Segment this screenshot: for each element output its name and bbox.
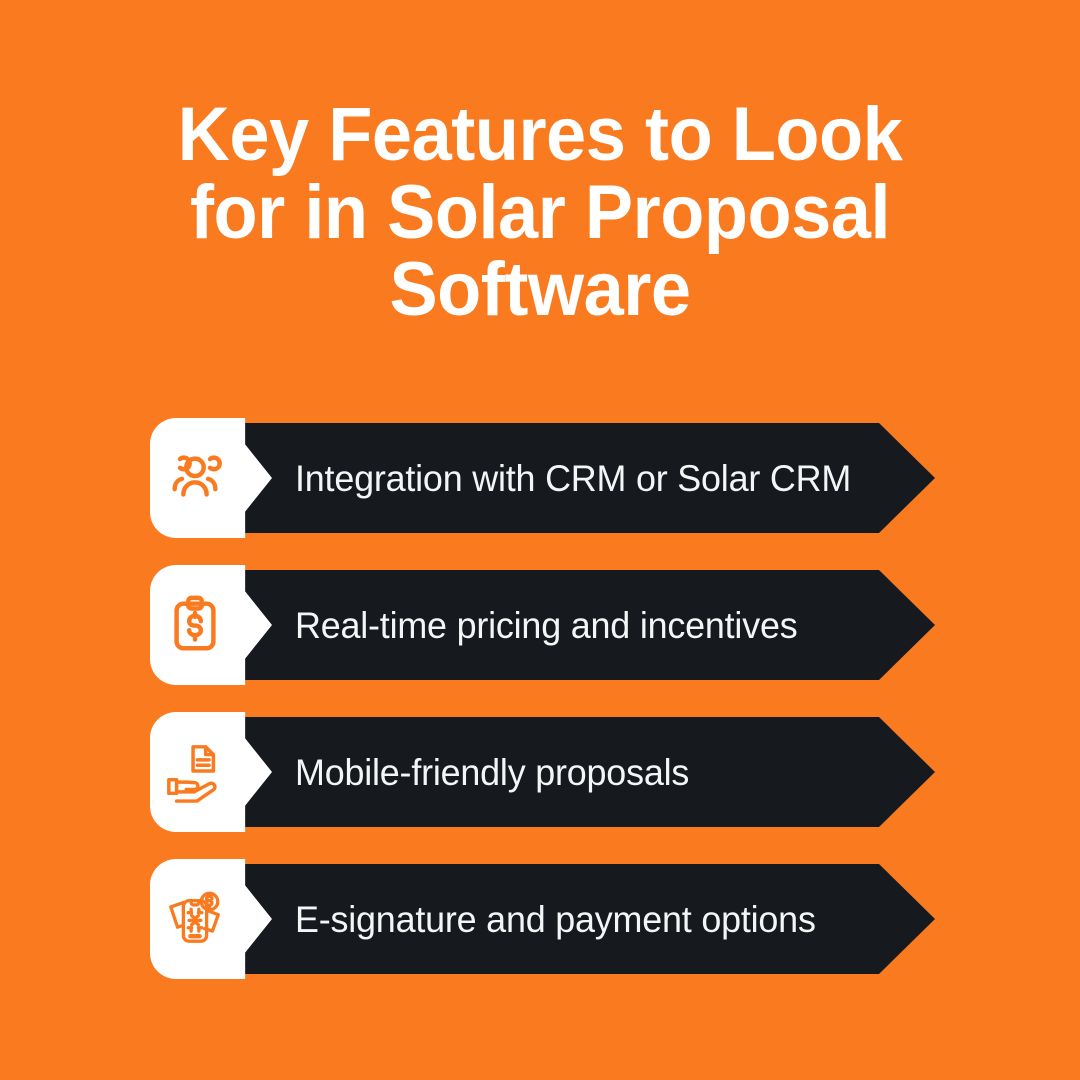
clipboard-dollar-icon [164,594,226,656]
feature-label: Mobile-friendly proposals [295,754,689,791]
page-title: Key Features to Look for in Solar Propos… [141,96,939,329]
feature-row[interactable]: Mobile-friendly proposals [0,712,1080,832]
title-block: Key Features to Look for in Solar Propos… [0,96,1080,329]
feature-bar: E-signature and payment options [195,864,935,974]
feature-label: Integration with CRM or Solar CRM [295,460,851,497]
feature-label: E-signature and payment options [295,901,816,938]
mobile-payment-icon [164,888,226,950]
feature-bar: Integration with CRM or Solar CRM [195,423,935,533]
infographic-poster: Key Features to Look for in Solar Propos… [0,0,1080,1080]
feature-bar: Mobile-friendly proposals [195,717,935,827]
feature-row[interactable]: Integration with CRM or Solar CRM [0,418,1080,538]
feature-row[interactable]: Real-time pricing and incentives [0,565,1080,685]
feature-label: Real-time pricing and incentives [295,607,797,644]
feature-row[interactable]: E-signature and payment options [0,859,1080,979]
feature-bar: Real-time pricing and incentives [195,570,935,680]
feature-list: Integration with CRM or Solar CRM [0,418,1080,1006]
users-group-icon [164,447,226,509]
hand-holding-document-icon [164,741,226,803]
